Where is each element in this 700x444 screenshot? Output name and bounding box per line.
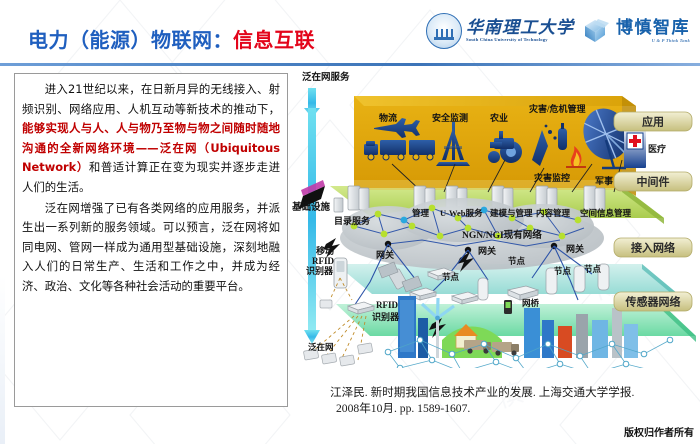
thinktank-name-en: U & P Think Tank [616, 39, 690, 44]
layer-tag-middleware: 中间件 [614, 172, 692, 191]
app-label-safety: 安全监测 [432, 112, 468, 123]
body-textbox: 进入21世纪以来，在日新月异的无线接入、射频识别、网络应用、人机互动等新技术的推… [14, 73, 288, 407]
node-label-gateway-1: 网关 [376, 249, 394, 260]
sensor-label-rfid-2: RFID [376, 300, 398, 310]
header-divider [0, 63, 700, 66]
app-label-logistics: 物流 [379, 112, 397, 123]
page-title-accent: 信息互联 [233, 30, 315, 52]
layer-tag-application: 应用 [614, 112, 692, 131]
university-name-en: South China University of Technology [466, 38, 574, 43]
university-logo-text: 华南理工大学 South China University of Technol… [466, 19, 574, 43]
axis-top-label: 泛在网服务 [302, 71, 350, 83]
node-label-gateway-2: 网关 [478, 245, 496, 256]
citation-line-1: 江泽民. 新时期我国信息技术产业的发展. 上海交通大学学报. [330, 385, 692, 401]
thinktank-name-cn: 博慎智库 [616, 19, 690, 36]
layer-tag-application-label: 应用 [642, 115, 664, 129]
paragraph-2: 泛在网增强了已有各类网络的应用服务，并派生出一系列新的服务领域。可以预言，泛在网… [22, 199, 280, 297]
app-label-agriculture: 农业 [489, 112, 508, 123]
mid-label-modeling: 建模与管理 [489, 208, 533, 218]
citation-block: 江泽民. 新时期我国信息技术产业的发展. 上海交通大学学报. 2008年10月.… [330, 385, 692, 417]
axis-mid-label: 基础设施 [292, 201, 331, 213]
slide-header: 电力（能源）物联网：信息互联 华南理工大学 South China Univer… [0, 0, 700, 64]
slide-canvas: 渊 博 慎 智 库 博 慎 电力（能源）物联网：信息互联 华南理工大学 Sout… [0, 0, 700, 444]
app-label-medical: 医疗 [648, 143, 666, 154]
cloud-label-ngn: NGN/NGI现有网络 [462, 229, 542, 241]
thinktank-logo: 博慎智库 U & P Think Tank [582, 17, 690, 45]
university-seal-icon [426, 13, 462, 49]
mid-label-spatial: 空间信息管理 [580, 208, 632, 218]
node-label-bridge: 网桥 [522, 298, 540, 308]
thinktank-cube-icon [582, 17, 612, 45]
ubiquitous-network-diagram: 应用 中间件 接入网络 传感器网络 泛在网服务 基础设施 泛在网 物流 安全监测 [292, 68, 696, 368]
sensor-label-reader-2: 识别器 [372, 311, 400, 322]
app-label-military: 军事 [595, 175, 613, 186]
app-label-disaster-mgmt: 灾害/危机管理 [529, 103, 586, 114]
sensor-label-rfid-1: RFID [312, 256, 334, 266]
axis-bottom-label: 泛在网 [308, 342, 334, 352]
mid-label-directory: 目录服务 [334, 215, 371, 226]
page-title: 电力（能源）物联网：信息互联 [28, 24, 315, 53]
app-label-disaster-monitor: 灾害监控 [534, 172, 570, 183]
paragraph-1: 进入21世纪以来，在日新月异的无线接入、射频识别、网络应用、人机互动等新技术的推… [22, 80, 280, 198]
node-label-node-3: 节点 [554, 266, 572, 276]
thinktank-logo-text: 博慎智库 U & P Think Tank [616, 19, 690, 44]
node-label-gateway-3: 网关 [566, 243, 584, 254]
citation-line-2: 2008年10月. pp. 1589-1607. [330, 401, 692, 417]
node-label-node-2: 节点 [508, 256, 526, 266]
layer-tag-sensor-label: 传感器网络 [625, 295, 681, 309]
university-logo: 华南理工大学 South China University of Technol… [426, 13, 574, 49]
layer-tag-sensor: 传感器网络 [614, 292, 692, 311]
layer-tag-access-label: 接入网络 [631, 241, 675, 255]
university-name-cn: 华南理工大学 [466, 19, 574, 36]
sensor-label-mobile: 移动 [316, 245, 334, 256]
mid-label-content: 内容管理 [536, 208, 571, 218]
paragraph-1-pre: 进入21世纪以来，在日新月异的无线接入、射频识别、网络应用、人机互动等新技术的推… [22, 82, 280, 116]
logo-bar: 华南理工大学 South China University of Technol… [426, 8, 690, 54]
layer-tag-middleware-label: 中间件 [637, 175, 670, 189]
mid-label-management: 管理 [412, 208, 430, 218]
node-label-node-4: 节点 [584, 264, 602, 274]
copyright-notice: 版权归作者所有 [624, 424, 694, 439]
layer-tag-access: 接入网络 [614, 238, 692, 257]
left-edge-strip [0, 0, 5, 444]
node-label-node-1: 节点 [442, 272, 460, 282]
mid-label-uweb: U-Web服务 [440, 208, 483, 218]
sensor-label-reader-1: 识别器 [306, 265, 334, 276]
page-title-main: 电力（能源）物联网： [28, 30, 233, 52]
